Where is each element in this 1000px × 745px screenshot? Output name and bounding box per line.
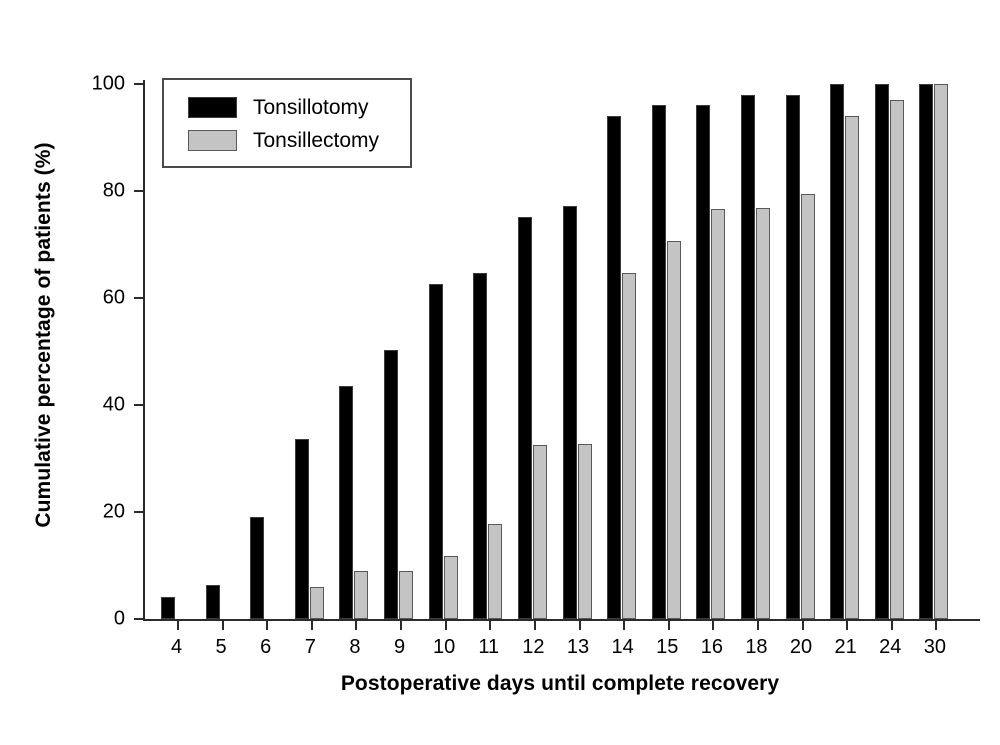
x-axis-tick-label: 15 xyxy=(644,636,690,659)
bar-tonsillotomy-day-18 xyxy=(741,95,755,619)
x-axis-tick-label: 30 xyxy=(912,636,958,659)
legend-item-tonsillotomy: Tonsillotomy xyxy=(188,91,410,124)
x-axis-tick xyxy=(266,621,268,630)
bar-tonsillotomy-day-4 xyxy=(161,597,175,619)
bar-tonsillectomy-day-14 xyxy=(622,273,636,619)
x-axis-title: Postoperative days until complete recove… xyxy=(140,672,980,696)
x-axis-tick xyxy=(757,621,759,630)
y-axis-tick xyxy=(134,511,143,513)
x-axis-tick-label: 20 xyxy=(778,636,824,659)
x-axis-tick xyxy=(935,621,937,630)
bar-tonsillectomy-day-8 xyxy=(354,571,368,619)
y-axis-tick xyxy=(134,404,143,406)
legend-swatch-icon-tonsillectomy xyxy=(188,130,237,151)
y-axis-tick-label: 0 xyxy=(71,608,125,631)
x-axis-tick-label: 8 xyxy=(332,636,378,659)
x-axis-tick xyxy=(445,621,447,630)
bar-tonsillectomy-day-21 xyxy=(845,116,859,619)
x-axis-tick xyxy=(846,621,848,630)
bar-tonsillectomy-day-9 xyxy=(399,571,413,619)
bar-tonsillotomy-day-24 xyxy=(875,84,889,619)
legend-item-tonsillectomy: Tonsillectomy xyxy=(188,124,410,157)
y-axis-tick-labels: 020406080100 xyxy=(71,80,125,621)
y-axis-tick-label: 20 xyxy=(71,501,125,524)
bar-tonsillotomy-day-9 xyxy=(384,350,398,619)
x-axis-tick-label: 14 xyxy=(600,636,646,659)
x-axis-tick xyxy=(802,621,804,630)
x-axis-tick-label: 5 xyxy=(198,636,244,659)
x-axis-tick xyxy=(177,621,179,630)
bar-tonsillectomy-day-11 xyxy=(488,524,502,619)
x-axis-tick-label: 11 xyxy=(466,636,512,659)
y-axis-tick xyxy=(134,618,143,620)
x-axis-tick xyxy=(623,621,625,630)
bar-tonsillotomy-day-10 xyxy=(429,284,443,619)
bar-tonsillotomy-day-21 xyxy=(830,84,844,619)
x-axis-tick-label: 13 xyxy=(555,636,601,659)
y-axis-tick-label: 60 xyxy=(71,287,125,310)
x-axis-tick xyxy=(534,621,536,630)
x-axis-tick xyxy=(400,621,402,630)
bar-tonsillectomy-day-13 xyxy=(578,444,592,619)
legend-label-tonsillectomy: Tonsillectomy xyxy=(253,129,379,153)
bar-tonsillotomy-day-13 xyxy=(563,206,577,619)
x-axis-tick-label: 16 xyxy=(689,636,735,659)
y-axis-tick xyxy=(134,83,143,85)
legend-swatch-icon-tonsillotomy xyxy=(188,97,237,118)
x-axis-tick-label: 4 xyxy=(154,636,200,659)
x-axis-line xyxy=(143,619,980,621)
y-axis-line xyxy=(143,80,145,621)
bar-tonsillotomy-day-11 xyxy=(473,273,487,619)
x-axis-tick-label: 21 xyxy=(823,636,869,659)
y-axis-tick xyxy=(134,297,143,299)
bar-tonsillotomy-day-20 xyxy=(786,95,800,619)
bar-tonsillotomy-day-14 xyxy=(607,116,621,619)
bar-tonsillotomy-day-8 xyxy=(339,386,353,619)
bar-tonsillotomy-day-5 xyxy=(206,585,220,619)
x-axis-tick-label: 7 xyxy=(287,636,333,659)
chart-figure: Cumulative percentage of patients (%) 02… xyxy=(0,0,1000,745)
bar-tonsillectomy-day-30 xyxy=(934,84,948,619)
legend-label-tonsillotomy: Tonsillotomy xyxy=(253,96,369,120)
bar-tonsillectomy-day-20 xyxy=(801,194,815,619)
bar-tonsillectomy-day-16 xyxy=(711,209,725,619)
x-axis-tick-label: 18 xyxy=(733,636,779,659)
y-axis-title: Cumulative percentage of patients (%) xyxy=(22,25,66,645)
y-axis-tick xyxy=(134,190,143,192)
bar-tonsillectomy-day-12 xyxy=(533,445,547,619)
bar-tonsillectomy-day-15 xyxy=(667,241,681,619)
x-axis-tick-label: 10 xyxy=(421,636,467,659)
bar-tonsillectomy-day-18 xyxy=(756,208,770,619)
x-axis-tick-label: 6 xyxy=(243,636,289,659)
bar-tonsillotomy-day-12 xyxy=(518,217,532,619)
bar-tonsillotomy-day-7 xyxy=(295,439,309,619)
x-axis-tick xyxy=(668,621,670,630)
x-axis-tick xyxy=(311,621,313,630)
bar-tonsillectomy-day-10 xyxy=(444,556,458,619)
x-axis-tick xyxy=(891,621,893,630)
y-axis-tick-label: 40 xyxy=(71,394,125,417)
bar-tonsillotomy-day-15 xyxy=(652,105,666,619)
x-axis-tick-label: 12 xyxy=(510,636,556,659)
x-axis-tick xyxy=(712,621,714,630)
x-axis-tick-label: 24 xyxy=(867,636,913,659)
y-axis-tick-label: 100 xyxy=(71,73,125,96)
x-axis-tick xyxy=(355,621,357,630)
bar-tonsillotomy-day-6 xyxy=(250,517,264,619)
bar-tonsillectomy-day-24 xyxy=(890,100,904,619)
x-axis-tick xyxy=(579,621,581,630)
x-axis-tick xyxy=(489,621,491,630)
x-axis-tick-label: 9 xyxy=(377,636,423,659)
bar-tonsillotomy-day-16 xyxy=(696,105,710,619)
bar-tonsillotomy-day-30 xyxy=(919,84,933,619)
x-axis-tick xyxy=(222,621,224,630)
y-axis-tick-label: 80 xyxy=(71,180,125,203)
bar-tonsillectomy-day-7 xyxy=(310,587,324,619)
chart-legend: Tonsillotomy Tonsillectomy xyxy=(162,78,412,168)
